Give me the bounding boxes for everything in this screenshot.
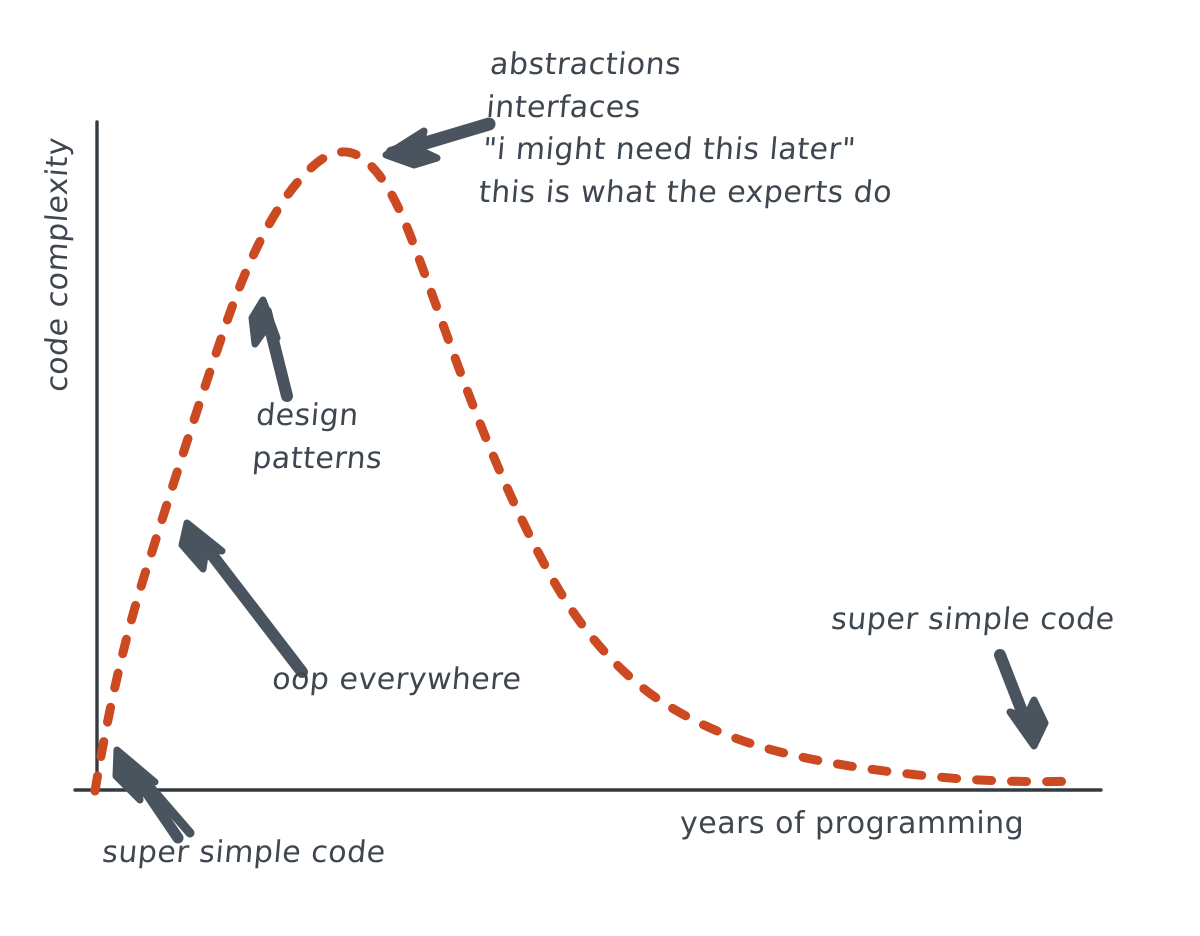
arrow-to-oop-icon [182, 523, 302, 672]
complexity-curve [95, 152, 1078, 791]
arrow-to-start-icon [116, 750, 190, 838]
arrow-to-design-patterns-icon [252, 300, 287, 396]
annotation-super-simple-code-left: super simple code [100, 833, 387, 873]
annotation-oop-everywhere: oop everywhere [270, 660, 523, 700]
x-axis-label: years of programming [680, 804, 1024, 844]
axes-group [75, 122, 1101, 791]
arrow-to-peak-icon [386, 124, 489, 165]
annotation-design-patterns: design patterns [251, 395, 388, 480]
arrow-to-tail-icon [1000, 655, 1045, 746]
chart-canvas: abstractions interfaces "i might need th… [0, 0, 1200, 936]
y-axis-label: code complexity [38, 136, 78, 394]
annotation-peak-label: abstractions interfaces "i might need th… [477, 44, 905, 214]
annotation-super-simple-code-right: super simple code [829, 600, 1116, 640]
